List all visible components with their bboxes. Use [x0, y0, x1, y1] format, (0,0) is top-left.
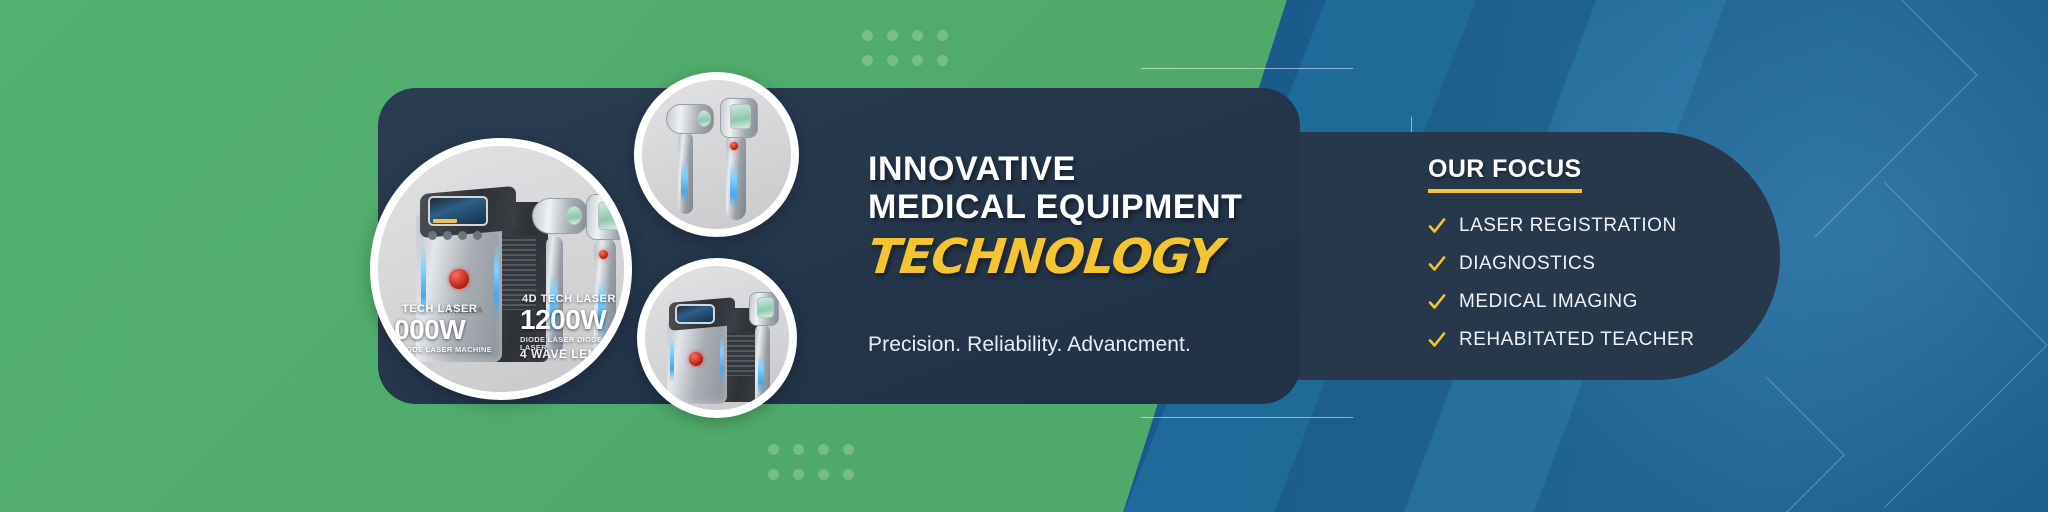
focus-item-label: MEDICAL IMAGING — [1459, 291, 1638, 313]
focus-item-label: LASER REGISTRATION — [1459, 215, 1677, 237]
check-icon — [1428, 331, 1446, 349]
overlay-right-sub: 4 WAVE LENGTH — [520, 348, 624, 360]
focus-title: OUR FOCUS — [1428, 155, 1582, 193]
focus-list: LASER REGISTRATION DIAGNOSTICS MEDICAL I… — [1428, 215, 1694, 351]
focus-block: OUR FOCUS LASER REGISTRATION DIAGNOSTICS… — [1428, 155, 1694, 367]
check-icon — [1428, 217, 1446, 235]
focus-item-label: DIAGNOSTICS — [1459, 253, 1595, 275]
product-image-handpieces — [634, 72, 799, 237]
product-image-console — [637, 258, 797, 418]
headline-block: INNOVATIVE MEDICAL EQUIPMENT TECHNOLOGY — [868, 150, 1338, 283]
overlay-left-tiny: DIODE LASER MACHINE — [398, 346, 492, 354]
focus-item-medical-imaging[interactable]: MEDICAL IMAGING — [1428, 291, 1694, 313]
headline-line-1: INNOVATIVE — [868, 150, 1338, 188]
check-icon — [1428, 255, 1446, 273]
dot-grid-bottom — [768, 444, 854, 480]
headline-script: TECHNOLOGY — [865, 232, 1340, 282]
focus-item-rehabitated-teacher[interactable]: REHABITATED TEACHER — [1428, 329, 1694, 351]
focus-item-laser-registration[interactable]: LASER REGISTRATION — [1428, 215, 1694, 237]
dot-grid-top — [862, 30, 948, 66]
headline-line-2: MEDICAL EQUIPMENT — [868, 188, 1338, 226]
check-icon — [1428, 293, 1446, 311]
focus-item-label: REHABITATED TEACHER — [1459, 329, 1694, 351]
tagline: Precision. Reliability. Advancment. — [868, 333, 1191, 357]
overlay-right-big: 1200W — [520, 306, 606, 334]
focus-item-diagnostics[interactable]: DIAGNOSTICS — [1428, 253, 1694, 275]
product-image-main: ANGELA TECH LASER 000W DIODE LASER MACHI… — [370, 138, 632, 400]
promo-banner: ANGELA TECH LASER 000W DIODE LASER MACHI… — [0, 0, 2048, 512]
overlay-left-big: 000W — [394, 316, 465, 344]
